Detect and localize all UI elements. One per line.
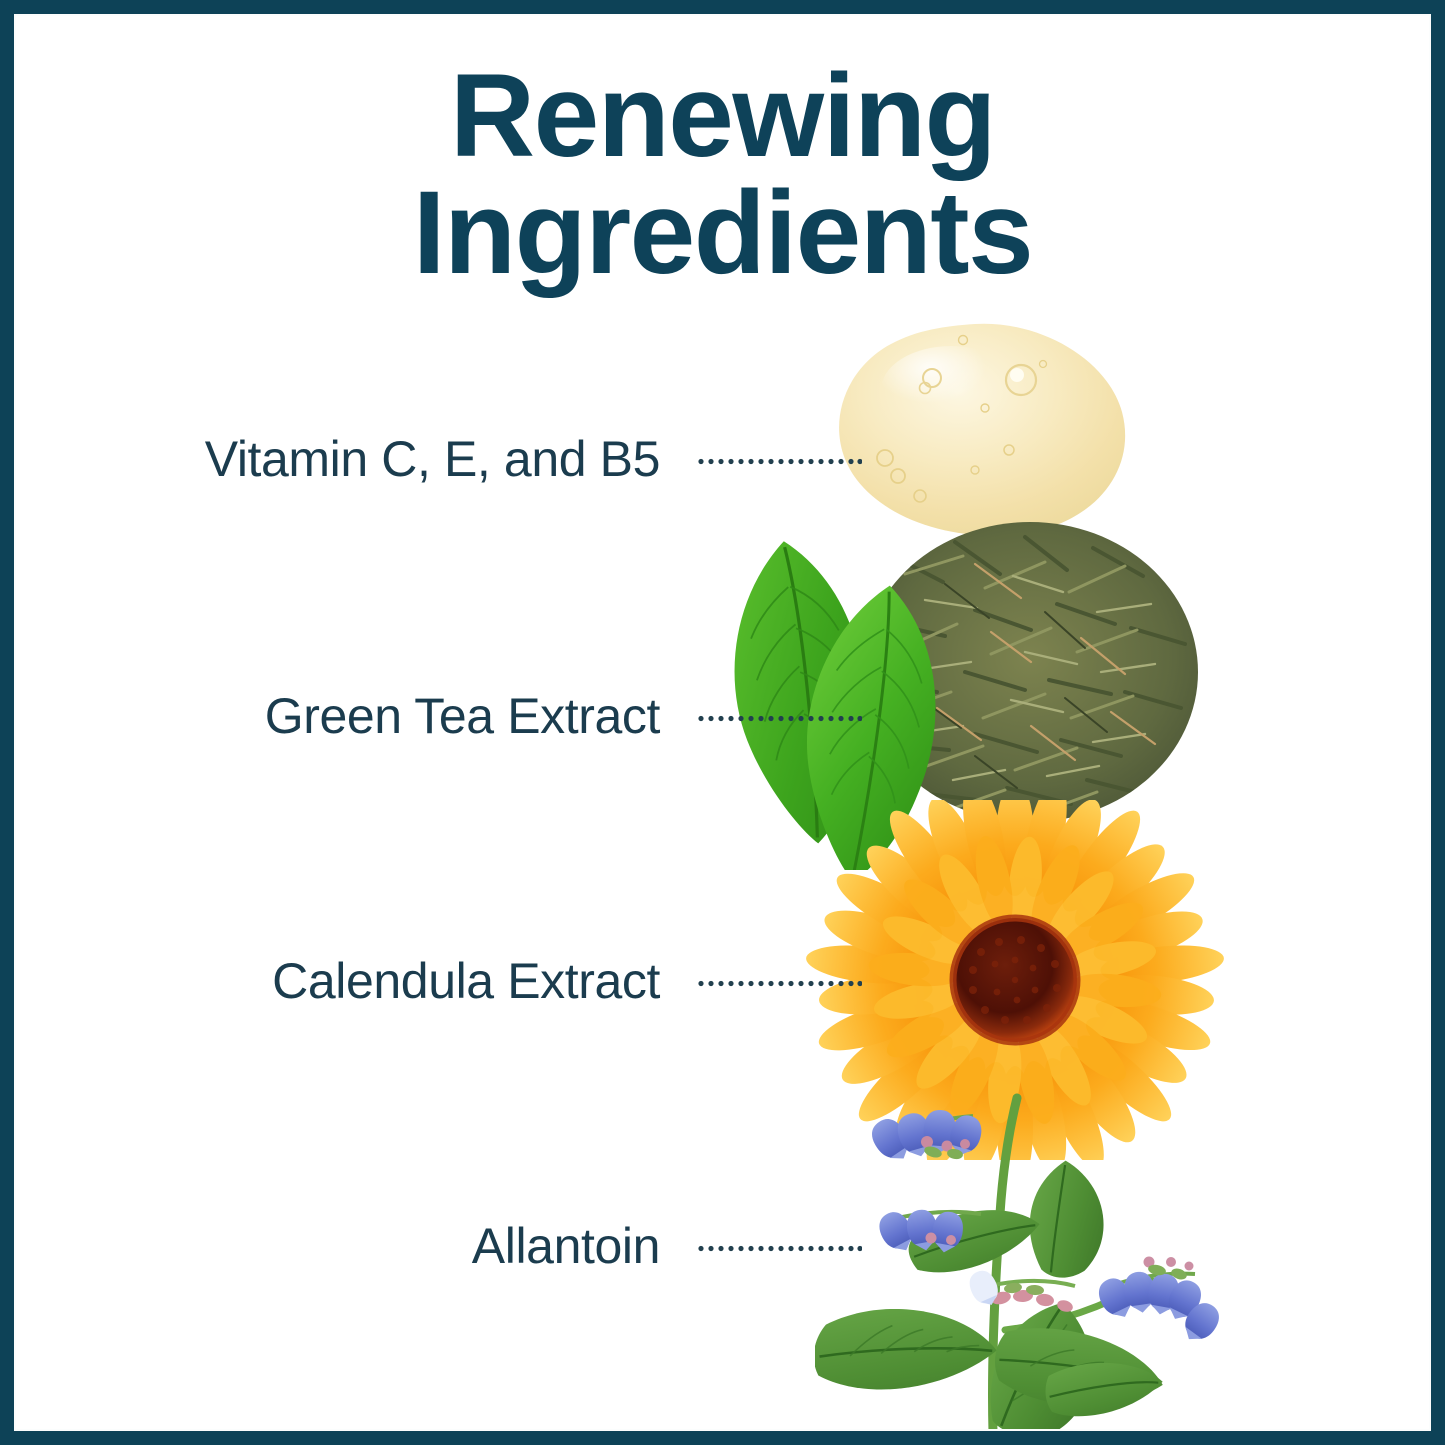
- dotted-leader-icon: [698, 714, 862, 723]
- list-item: Calendula Extract: [0, 950, 880, 1012]
- list-item: Allantoin: [0, 1215, 880, 1277]
- list-item: Green Tea Extract: [0, 685, 880, 747]
- ingredient-label: Calendula Extract: [0, 952, 660, 1010]
- ingredient-label: Allantoin: [0, 1217, 660, 1275]
- infographic-canvas: Renewing Ingredients Vitamin C, E, and B…: [0, 0, 1445, 1445]
- list-item: Vitamin C, E, and B5: [0, 428, 880, 490]
- ingredient-label: Vitamin C, E, and B5: [0, 430, 660, 488]
- dotted-leader-icon: [698, 1244, 862, 1253]
- dotted-leader-icon: [698, 457, 862, 466]
- comfrey-plant-icon: [815, 1080, 1255, 1445]
- ingredient-label: Green Tea Extract: [0, 687, 660, 745]
- ingredient-list: Vitamin C, E, and B5 Green Tea Extract: [0, 0, 880, 1445]
- dotted-leader-icon: [698, 979, 862, 988]
